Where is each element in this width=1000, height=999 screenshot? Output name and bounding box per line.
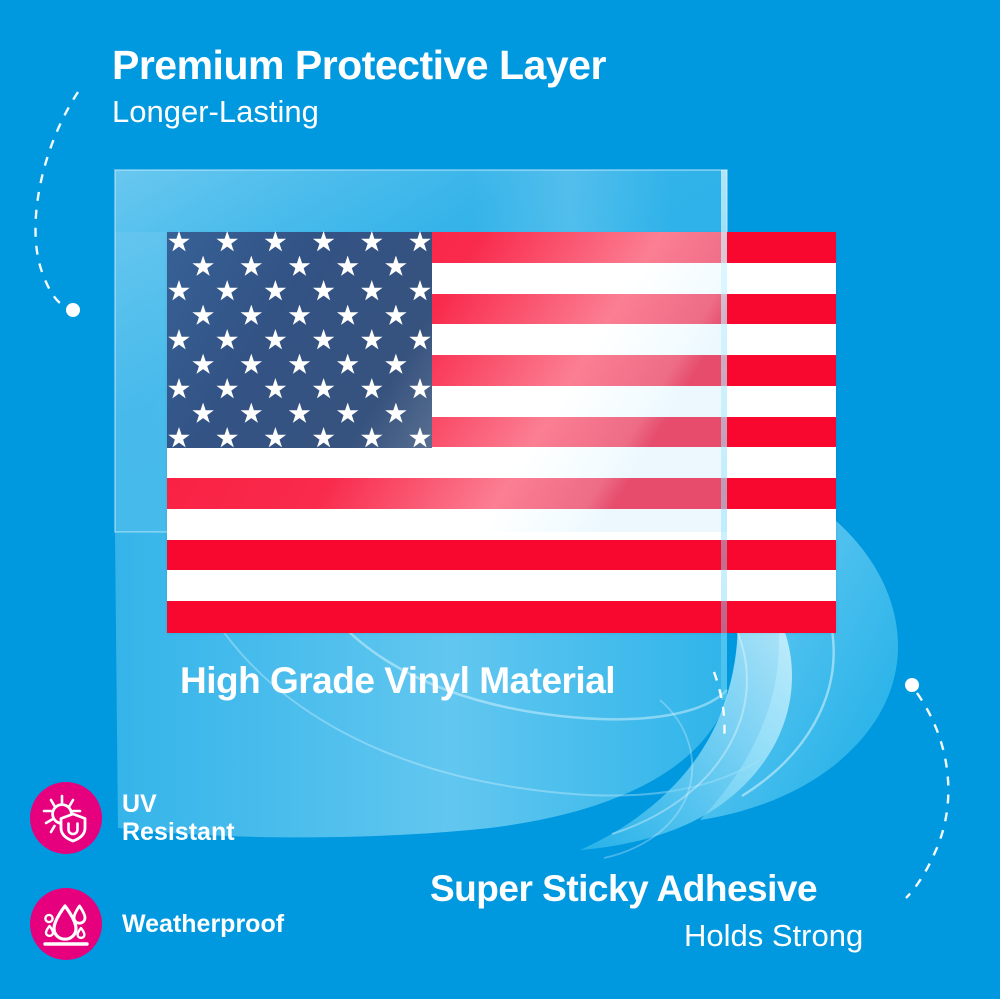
flag-star [385, 354, 407, 376]
flag-star [289, 354, 311, 376]
flag-star [264, 231, 286, 253]
flag-star [313, 231, 335, 253]
flag-star [385, 256, 407, 278]
flag-star [192, 403, 214, 425]
flag-star [385, 305, 407, 327]
flag-star [289, 305, 311, 327]
flag-stripe [167, 570, 836, 601]
flag-star [313, 329, 335, 351]
flag-star [168, 280, 190, 302]
flag-stripe [167, 509, 836, 540]
badge-circle-weatherproof [30, 888, 102, 960]
flag-star [264, 427, 286, 449]
heading-high-grade-vinyl-material: High Grade Vinyl Material [180, 662, 615, 701]
subheading-longer-lasting: Longer-Lasting [112, 96, 319, 129]
heading-premium-protective-layer: Premium Protective Layer [112, 44, 606, 87]
flag-star [409, 231, 431, 253]
flag-star [192, 256, 214, 278]
flag-star [240, 256, 262, 278]
flag-star [168, 231, 190, 253]
flag-star [240, 403, 262, 425]
flag-star [337, 256, 359, 278]
flag-star [385, 403, 407, 425]
flag-stripe [167, 478, 836, 509]
badge-circle-uv [30, 782, 102, 854]
flag-star [264, 280, 286, 302]
badge-label-weatherproof: Weatherproof [122, 910, 284, 938]
flag-star [409, 280, 431, 302]
flag-star [313, 280, 335, 302]
sun-shield-icon [40, 792, 92, 844]
flag-star [264, 378, 286, 400]
flag-star [216, 280, 238, 302]
flag-star [409, 378, 431, 400]
flag-star [240, 354, 262, 376]
subheading-holds-strong: Holds Strong [684, 920, 863, 953]
flag-star [240, 305, 262, 327]
flag-star [216, 378, 238, 400]
flag-star [289, 256, 311, 278]
flag-stripe [167, 540, 836, 571]
flag-star [337, 305, 359, 327]
flag-star [409, 329, 431, 351]
flag-star [216, 427, 238, 449]
flag-star [216, 231, 238, 253]
flag-star [192, 305, 214, 327]
feature-badge-uv-resistant: UV Resistant [30, 782, 235, 854]
flag-star [337, 403, 359, 425]
flag-star [313, 378, 335, 400]
flag-star [361, 280, 383, 302]
heading-super-sticky-adhesive: Super Sticky Adhesive [430, 870, 817, 909]
flag-star [192, 354, 214, 376]
flag-canton [167, 232, 432, 448]
flag-star [337, 354, 359, 376]
flag-star [361, 378, 383, 400]
usa-flag [167, 232, 836, 632]
feature-badge-weatherproof: Weatherproof [30, 888, 284, 960]
flag-star [361, 427, 383, 449]
flag-stripe [167, 447, 836, 478]
flag-star [168, 329, 190, 351]
flag-star [289, 403, 311, 425]
flag-star [361, 329, 383, 351]
flag-star [409, 427, 431, 449]
badge-label-uv-resistant: UV Resistant [122, 790, 235, 846]
flag-star [216, 329, 238, 351]
water-droplet-icon [40, 898, 92, 950]
infographic-canvas: Premium Protective Layer Longer-Lasting … [0, 0, 1000, 999]
flag-star [361, 231, 383, 253]
flag-star [168, 378, 190, 400]
flag-stripe [167, 601, 836, 632]
flag-star [168, 427, 190, 449]
flag-star [264, 329, 286, 351]
flag-star [313, 427, 335, 449]
